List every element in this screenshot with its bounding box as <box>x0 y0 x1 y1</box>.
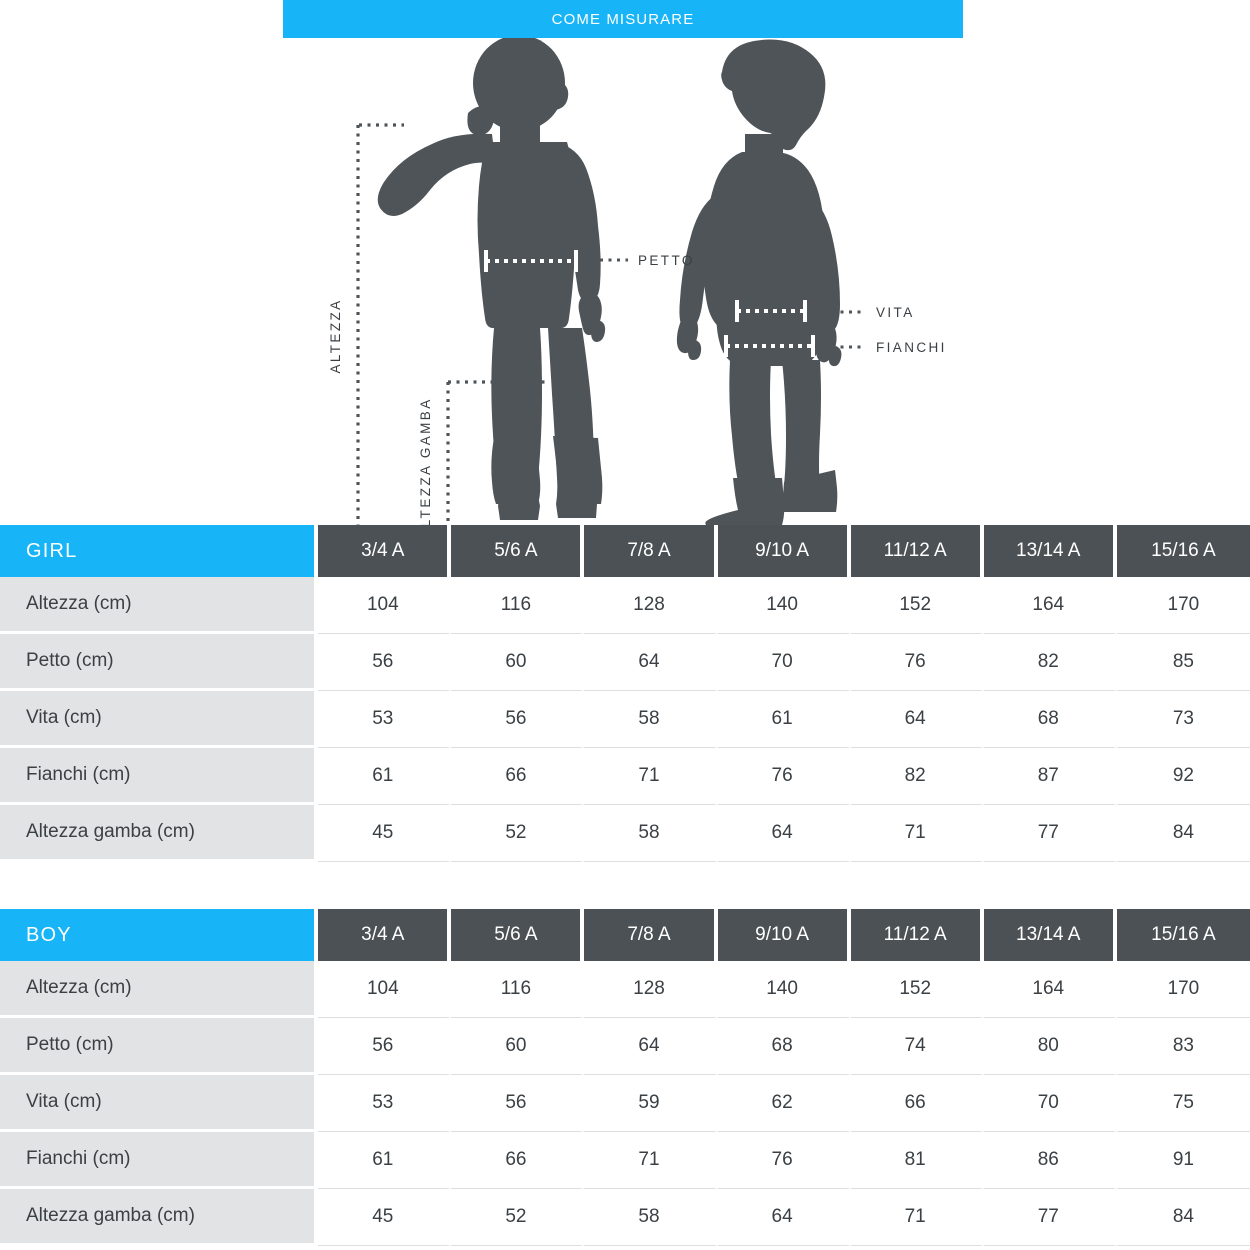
measure-value: 84 <box>1117 805 1250 862</box>
measure-value: 70 <box>984 1075 1117 1132</box>
measure-label: Vita (cm) <box>0 1075 318 1132</box>
girl-size-table: GIRL 3/4 A 5/6 A 7/8 A 9/10 A 11/12 A 13… <box>0 525 1250 862</box>
measure-value: 66 <box>451 748 584 805</box>
measure-value: 64 <box>718 1189 851 1246</box>
measure-value: 58 <box>584 691 717 748</box>
table-row: Altezza (cm) 104 116 128 140 152 164 170 <box>0 961 1250 1018</box>
size-column-header: 11/12 A <box>851 525 984 577</box>
measure-value: 140 <box>718 577 851 634</box>
measure-value: 82 <box>984 634 1117 691</box>
measure-value: 60 <box>451 1018 584 1075</box>
measure-label: Fianchi (cm) <box>0 1132 318 1189</box>
measure-label: Altezza gamba (cm) <box>0 805 318 862</box>
front-child-silhouette <box>378 38 605 520</box>
size-column-header: 7/8 A <box>584 525 717 577</box>
measure-value: 53 <box>318 1075 451 1132</box>
altezza-gamba-label: ALTEZZA GAMBA <box>418 397 433 525</box>
table-row: Altezza gamba (cm) 45 52 58 64 71 77 84 <box>0 1189 1250 1246</box>
measure-value: 152 <box>851 961 984 1018</box>
measure-label: Petto (cm) <box>0 634 318 691</box>
measure-value: 81 <box>851 1132 984 1189</box>
measure-value: 76 <box>851 634 984 691</box>
measure-value: 74 <box>851 1018 984 1075</box>
measure-value: 64 <box>584 634 717 691</box>
measure-value: 87 <box>984 748 1117 805</box>
size-column-header: 15/16 A <box>1117 525 1250 577</box>
side-child-silhouette <box>677 40 842 526</box>
measure-value: 64 <box>851 691 984 748</box>
measure-value: 164 <box>984 577 1117 634</box>
measure-value: 91 <box>1117 1132 1250 1189</box>
measure-value: 64 <box>584 1018 717 1075</box>
measure-value: 80 <box>984 1018 1117 1075</box>
category-header-boy: BOY <box>0 909 318 961</box>
measure-value: 85 <box>1117 634 1250 691</box>
measure-value: 59 <box>584 1075 717 1132</box>
measure-value: 73 <box>1117 691 1250 748</box>
size-column-header: 13/14 A <box>984 525 1117 577</box>
measure-value: 77 <box>984 1189 1117 1246</box>
measure-value: 58 <box>584 1189 717 1246</box>
table-row: Fianchi (cm) 61 66 71 76 82 87 92 <box>0 748 1250 805</box>
measure-value: 60 <box>451 634 584 691</box>
measure-value: 70 <box>718 634 851 691</box>
table-row: Vita (cm) 53 56 58 61 64 68 73 <box>0 691 1250 748</box>
measure-value: 152 <box>851 577 984 634</box>
size-column-header: 15/16 A <box>1117 909 1250 961</box>
measure-label: Fianchi (cm) <box>0 748 318 805</box>
measure-label: Altezza gamba (cm) <box>0 1189 318 1246</box>
boy-size-table: BOY 3/4 A 5/6 A 7/8 A 9/10 A 11/12 A 13/… <box>0 909 1250 1246</box>
size-column-header: 13/14 A <box>984 909 1117 961</box>
table-header-row: GIRL 3/4 A 5/6 A 7/8 A 9/10 A 11/12 A 13… <box>0 525 1250 577</box>
size-column-header: 3/4 A <box>318 525 451 577</box>
measure-value: 45 <box>318 1189 451 1246</box>
measure-value: 71 <box>584 1132 717 1189</box>
boy-size-table-block: BOY 3/4 A 5/6 A 7/8 A 9/10 A 11/12 A 13/… <box>0 909 1250 1246</box>
measurement-illustration: ALTEZZA ALTEZZA GAMBA PETTO VITA <box>0 38 1250 525</box>
measure-label: Vita (cm) <box>0 691 318 748</box>
size-column-header: 5/6 A <box>451 525 584 577</box>
measure-value: 92 <box>1117 748 1250 805</box>
page-header: COME MISURARE <box>0 0 1250 38</box>
measure-value: 56 <box>318 634 451 691</box>
table-row: Petto (cm) 56 60 64 68 74 80 83 <box>0 1018 1250 1075</box>
table-row: Fianchi (cm) 61 66 71 76 81 86 91 <box>0 1132 1250 1189</box>
altezza-label: ALTEZZA <box>328 298 343 373</box>
measure-value: 61 <box>318 1132 451 1189</box>
measure-value: 71 <box>851 805 984 862</box>
table-row: Vita (cm) 53 56 59 62 66 70 75 <box>0 1075 1250 1132</box>
measure-value: 77 <box>984 805 1117 862</box>
size-column-header: 7/8 A <box>584 909 717 961</box>
measure-value: 84 <box>1117 1189 1250 1246</box>
measure-label: Petto (cm) <box>0 1018 318 1075</box>
measure-label: Altezza (cm) <box>0 961 318 1018</box>
measure-value: 116 <box>451 577 584 634</box>
measure-value: 71 <box>584 748 717 805</box>
table-separator-gap <box>0 862 1250 909</box>
petto-label: PETTO <box>638 253 695 268</box>
measure-value: 56 <box>451 691 584 748</box>
measure-value: 116 <box>451 961 584 1018</box>
table-row: Altezza (cm) 104 116 128 140 152 164 170 <box>0 577 1250 634</box>
measure-value: 56 <box>451 1075 584 1132</box>
girl-size-table-block: GIRL 3/4 A 5/6 A 7/8 A 9/10 A 11/12 A 13… <box>0 525 1250 862</box>
measure-value: 71 <box>851 1189 984 1246</box>
measure-value: 52 <box>451 805 584 862</box>
measure-label: Altezza (cm) <box>0 577 318 634</box>
measure-value: 66 <box>451 1132 584 1189</box>
size-column-header: 9/10 A <box>718 909 851 961</box>
category-header-girl: GIRL <box>0 525 318 577</box>
measure-value: 64 <box>718 805 851 862</box>
measure-value: 104 <box>318 577 451 634</box>
measure-value: 58 <box>584 805 717 862</box>
measure-value: 83 <box>1117 1018 1250 1075</box>
measure-value: 140 <box>718 961 851 1018</box>
vita-label: VITA <box>876 305 915 320</box>
measure-value: 82 <box>851 748 984 805</box>
measure-value: 170 <box>1117 577 1250 634</box>
measure-value: 128 <box>584 577 717 634</box>
measure-value: 61 <box>718 691 851 748</box>
measure-value: 52 <box>451 1189 584 1246</box>
banner-title: COME MISURARE <box>283 0 963 38</box>
measure-value: 61 <box>318 748 451 805</box>
table-row: Altezza gamba (cm) 45 52 58 64 71 77 84 <box>0 805 1250 862</box>
measure-value: 76 <box>718 1132 851 1189</box>
measure-value: 45 <box>318 805 451 862</box>
measure-value: 75 <box>1117 1075 1250 1132</box>
measure-value: 56 <box>318 1018 451 1075</box>
size-column-header: 3/4 A <box>318 909 451 961</box>
size-column-header: 9/10 A <box>718 525 851 577</box>
measure-value: 104 <box>318 961 451 1018</box>
measure-value: 170 <box>1117 961 1250 1018</box>
table-header-row: BOY 3/4 A 5/6 A 7/8 A 9/10 A 11/12 A 13/… <box>0 909 1250 961</box>
measure-value: 128 <box>584 961 717 1018</box>
measure-value: 53 <box>318 691 451 748</box>
table-row: Petto (cm) 56 60 64 70 76 82 85 <box>0 634 1250 691</box>
size-column-header: 11/12 A <box>851 909 984 961</box>
measure-value: 68 <box>718 1018 851 1075</box>
measure-value: 76 <box>718 748 851 805</box>
fianchi-label: FIANCHI <box>876 340 947 355</box>
measure-value: 68 <box>984 691 1117 748</box>
measure-value: 66 <box>851 1075 984 1132</box>
size-column-header: 5/6 A <box>451 909 584 961</box>
measure-value: 86 <box>984 1132 1117 1189</box>
measure-value: 164 <box>984 961 1117 1018</box>
measure-value: 62 <box>718 1075 851 1132</box>
